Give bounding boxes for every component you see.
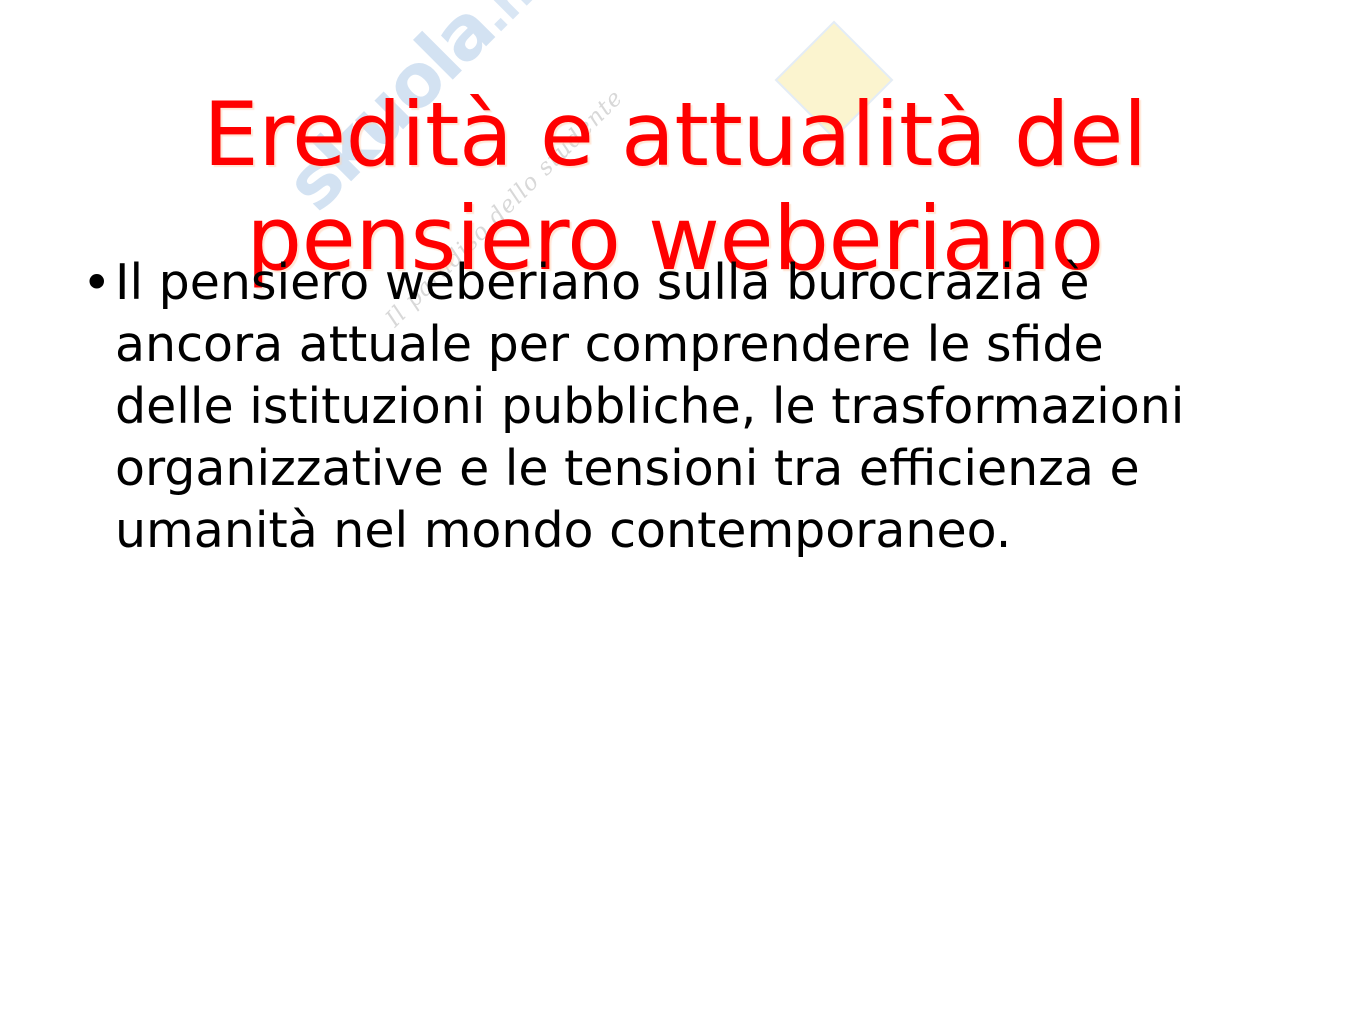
bullet-marker-icon: • — [70, 252, 115, 314]
bullet-item: • Il pensiero weberiano sulla burocrazia… — [70, 252, 1250, 562]
watermark-domain: .net — [464, 0, 583, 44]
slide-title-line-1: Eredità e attualità del — [60, 83, 1290, 187]
presentation-slide: skuola.net Il paradiso dello studente Er… — [0, 0, 1350, 1013]
bullet-text: Il pensiero weberiano sulla burocrazia è… — [115, 252, 1205, 562]
slide-body: • Il pensiero weberiano sulla burocrazia… — [70, 252, 1250, 562]
